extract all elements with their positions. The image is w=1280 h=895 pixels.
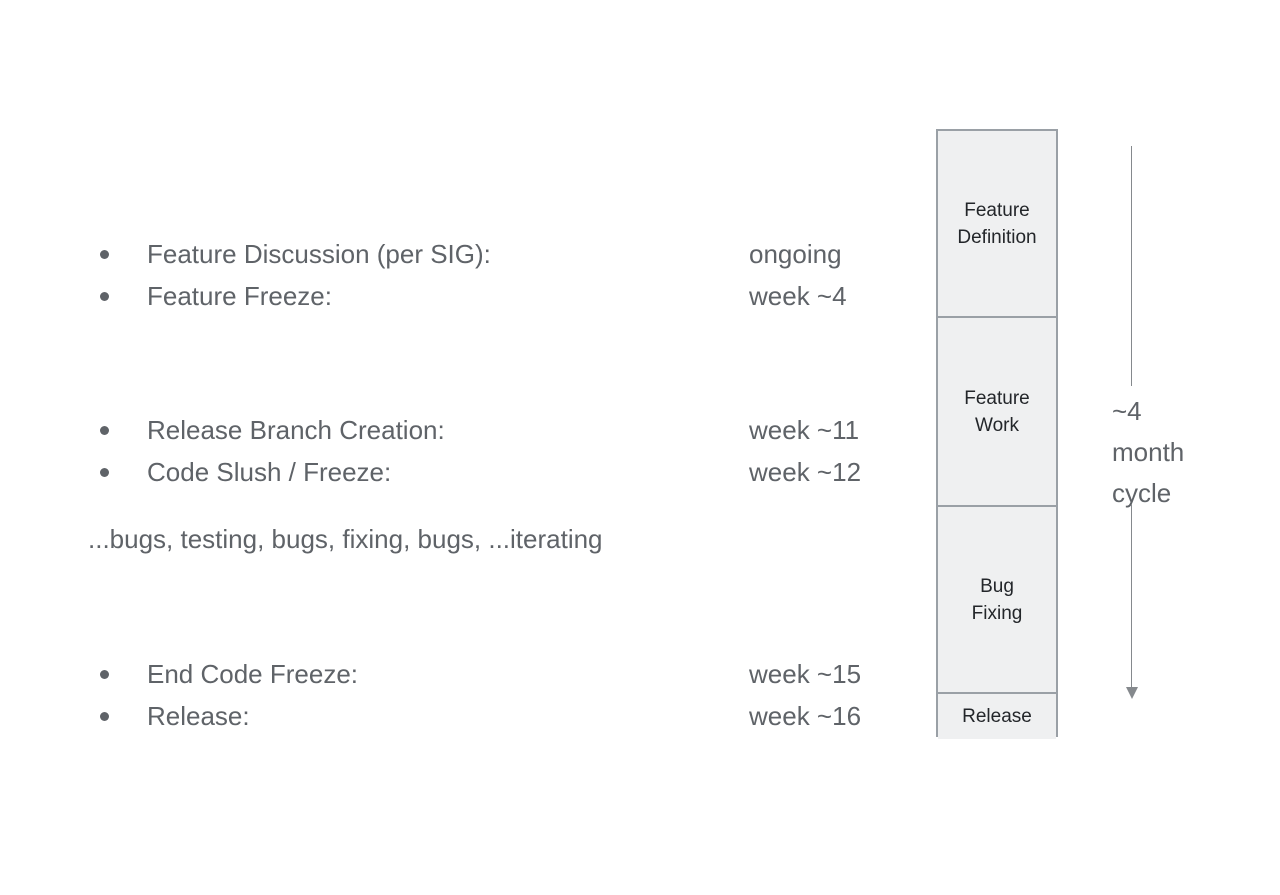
schedule-item-value: week ~12: [749, 457, 861, 487]
list-item: Feature Discussion (per SIG): ongoing: [0, 233, 920, 275]
schedule-group-3: End Code Freeze: week ~15 Release: week …: [0, 653, 920, 737]
cycle-duration-label: ~4 month cycle: [1112, 391, 1184, 514]
schedule-item-value: week ~16: [749, 701, 861, 731]
schedule-item-value: ongoing: [749, 239, 842, 269]
schedule-item-label: Feature Freeze:: [147, 281, 332, 311]
schedule-item-label: Release Branch Creation:: [147, 415, 445, 445]
timeline-phase-feature-definition: Feature Definition: [938, 131, 1056, 316]
phase-label-line1: Feature: [964, 388, 1029, 409]
schedule-item-label: Feature Discussion (per SIG):: [147, 239, 491, 269]
cycle-label-line3: cycle: [1112, 478, 1171, 508]
schedule-item-value: week ~15: [749, 659, 861, 689]
cycle-arrow-line-upper: [1131, 146, 1132, 386]
timeline-phase-bug-fixing: Bug Fixing: [938, 505, 1056, 692]
phase-label-line2: Work: [975, 415, 1019, 436]
schedule-item-label: Code Slush / Freeze:: [147, 457, 391, 487]
schedule-item-value: week ~4: [749, 281, 847, 311]
schedule-group-1: Feature Discussion (per SIG): ongoing Fe…: [0, 233, 920, 317]
cycle-label-line1: ~4: [1112, 396, 1142, 426]
bullet-icon: [100, 250, 109, 259]
iterating-note: ...bugs, testing, bugs, fixing, bugs, ..…: [88, 524, 603, 554]
phase-label-line2: Fixing: [972, 603, 1023, 624]
schedule-group-2: Release Branch Creation: week ~11 Code S…: [0, 409, 920, 493]
list-item: Code Slush / Freeze: week ~12: [0, 451, 920, 493]
schedule-item-label: Release:: [147, 701, 250, 731]
slide-canvas: Feature Discussion (per SIG): ongoing Fe…: [0, 0, 1280, 895]
bullet-icon: [100, 426, 109, 435]
list-item: End Code Freeze: week ~15: [0, 653, 920, 695]
phase-label-line1: Release: [962, 703, 1032, 730]
phase-label-line2: Definition: [957, 227, 1036, 248]
bullet-icon: [100, 292, 109, 301]
cycle-duration-annotation: ~4 month cycle: [1100, 129, 1260, 737]
cycle-label-line2: month: [1112, 437, 1184, 467]
schedule-item-label: End Code Freeze:: [147, 659, 358, 689]
timeline-phase-feature-work: Feature Work: [938, 316, 1056, 505]
bullet-icon: [100, 712, 109, 721]
bullet-icon: [100, 468, 109, 477]
phase-label-line1: Feature: [964, 200, 1029, 221]
release-timeline-column: Feature Definition Feature Work Bug Fixi…: [936, 129, 1058, 737]
cycle-arrow-line-lower: [1131, 504, 1132, 689]
list-item: Release: week ~16: [0, 695, 920, 737]
bullet-icon: [100, 670, 109, 679]
release-schedule-list: Feature Discussion (per SIG): ongoing Fe…: [0, 0, 920, 895]
phase-label-line1: Bug: [980, 576, 1014, 597]
schedule-item-value: week ~11: [749, 415, 859, 445]
list-item: Feature Freeze: week ~4: [0, 275, 920, 317]
arrow-down-icon: [1126, 687, 1138, 699]
list-item: Release Branch Creation: week ~11: [0, 409, 920, 451]
timeline-phase-release: Release: [938, 692, 1056, 739]
